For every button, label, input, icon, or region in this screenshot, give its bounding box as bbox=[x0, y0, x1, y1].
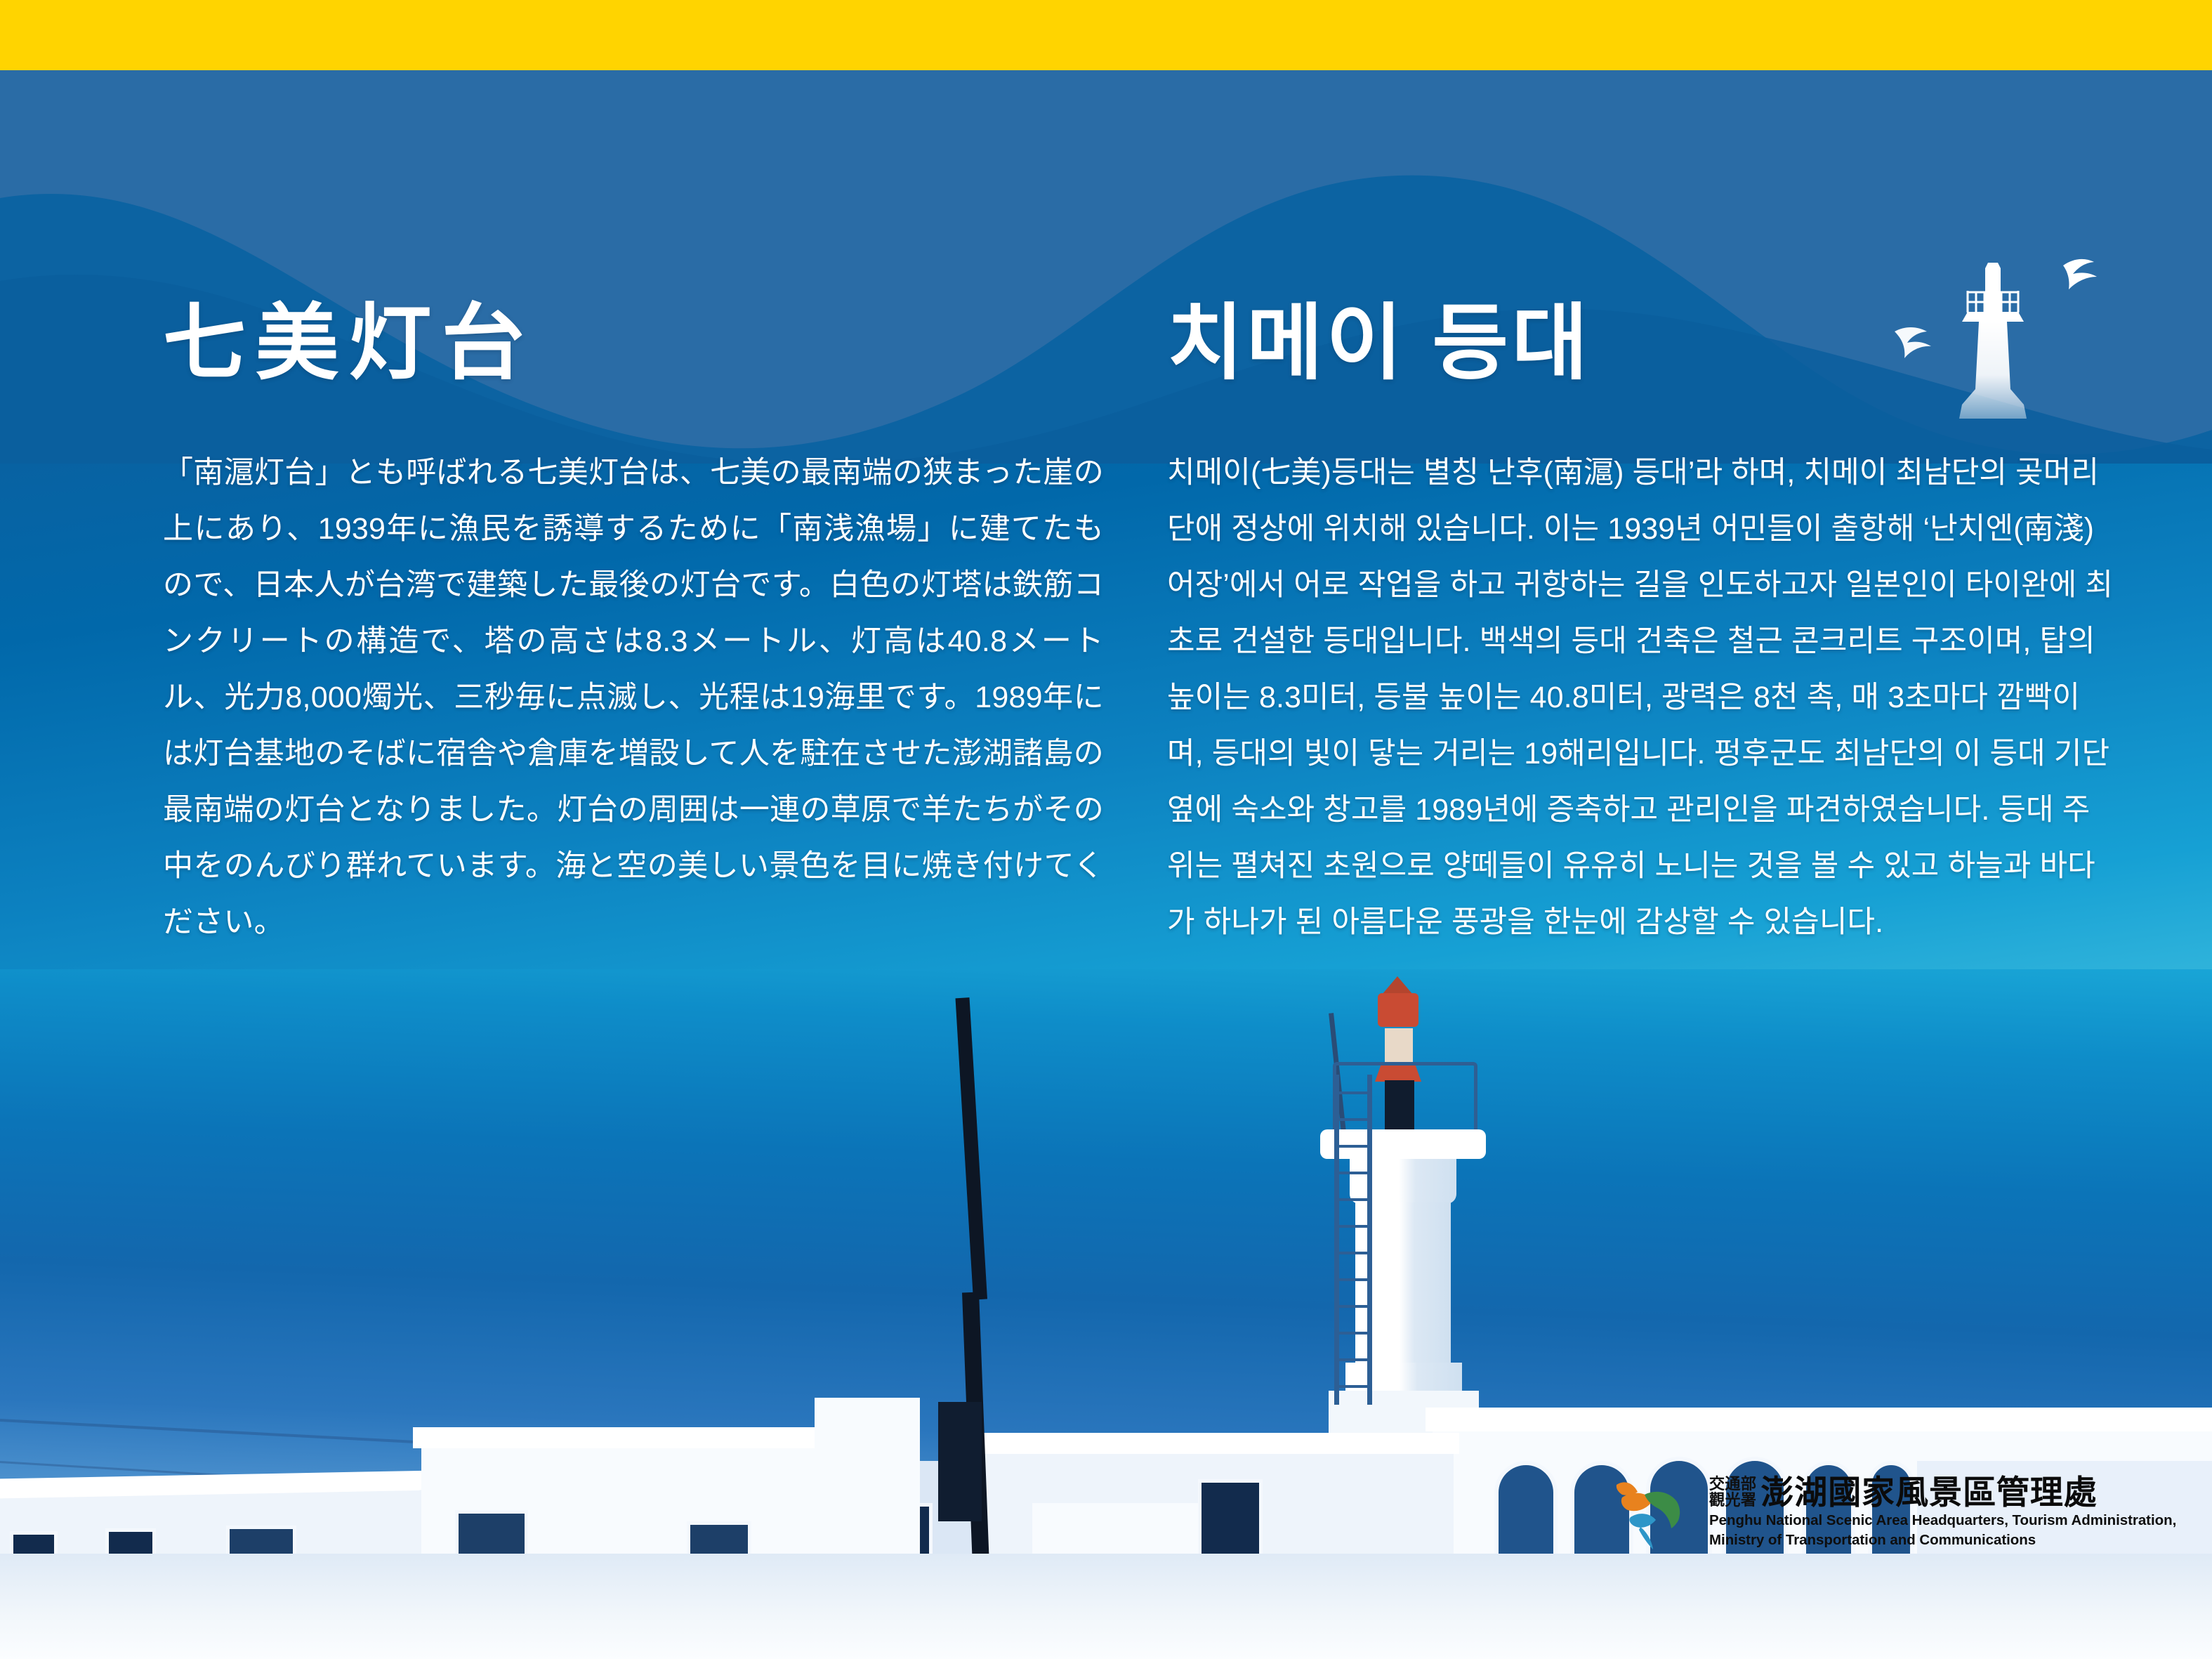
seagull-icon bbox=[2063, 259, 2097, 289]
yellow-header-band bbox=[0, 0, 2212, 70]
access-ladder bbox=[1334, 1075, 1372, 1405]
body-text-japanese: 「南滬灯台」とも呼ばれる七美灯台は、七美の最南端の狭まった崖の上にあり、1939… bbox=[163, 445, 1104, 951]
logo-text: 交通部 觀光署 澎湖國家風景區管理處 Penghu National Sceni… bbox=[1709, 1474, 2176, 1549]
page-title-japanese: 七美灯台 bbox=[163, 302, 1104, 385]
logo-english-line-1: Penghu National Scenic Area Headquarters… bbox=[1709, 1512, 2176, 1529]
ministry-lines: 交通部 觀光署 bbox=[1709, 1477, 1756, 1509]
body-text-korean: 치메이(七美)등대는 별칭 난후(南滬) 등대’라 하며, 치메이 최남단의 곶… bbox=[1167, 445, 2115, 951]
logo-english-line-2: Ministry of Transportation and Communica… bbox=[1709, 1531, 2176, 1549]
logo-mark-icon bbox=[1609, 1474, 1699, 1558]
logo-chinese-name: 澎湖國家風景區管理處 bbox=[1760, 1476, 2097, 1509]
japanese-column: 七美灯台 「南滬灯台」とも呼ばれる七美灯台は、七美の最南端の狭まった崖の上にあり… bbox=[163, 302, 1104, 951]
lighthouse-icon bbox=[1889, 239, 2128, 428]
penghu-nsa-logo: 交通部 觀光署 澎湖國家風景區管理處 Penghu National Sceni… bbox=[1609, 1474, 2176, 1558]
foreground-ground bbox=[0, 1554, 2212, 1659]
lantern-housing bbox=[1378, 993, 1418, 1027]
lantern-glass bbox=[1385, 1028, 1413, 1065]
info-panel: 七美灯台 「南滬灯台」とも呼ばれる七美灯台は、七美の最南端の狭まった崖の上にあり… bbox=[0, 0, 2212, 1659]
seagull-icon bbox=[1895, 327, 1931, 358]
